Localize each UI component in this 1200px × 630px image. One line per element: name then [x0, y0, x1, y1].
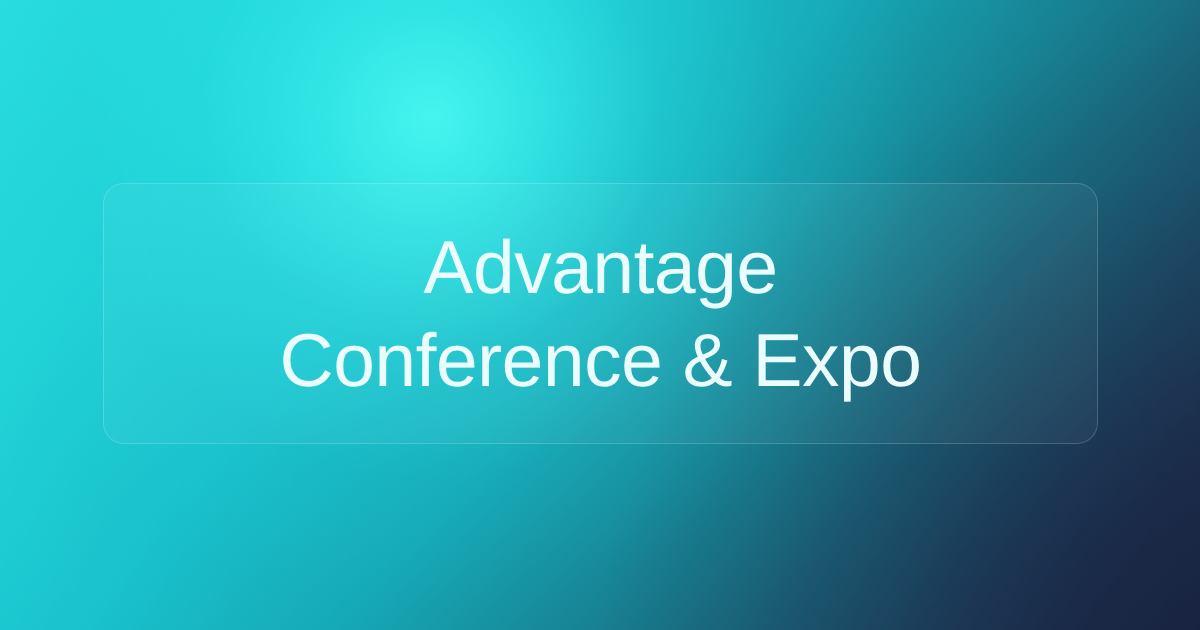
open-graph-card: Advantage Conference & Expo	[0, 0, 1200, 630]
page-title: Advantage Conference & Expo	[138, 221, 1063, 407]
title-panel: Advantage Conference & Expo	[103, 183, 1098, 444]
